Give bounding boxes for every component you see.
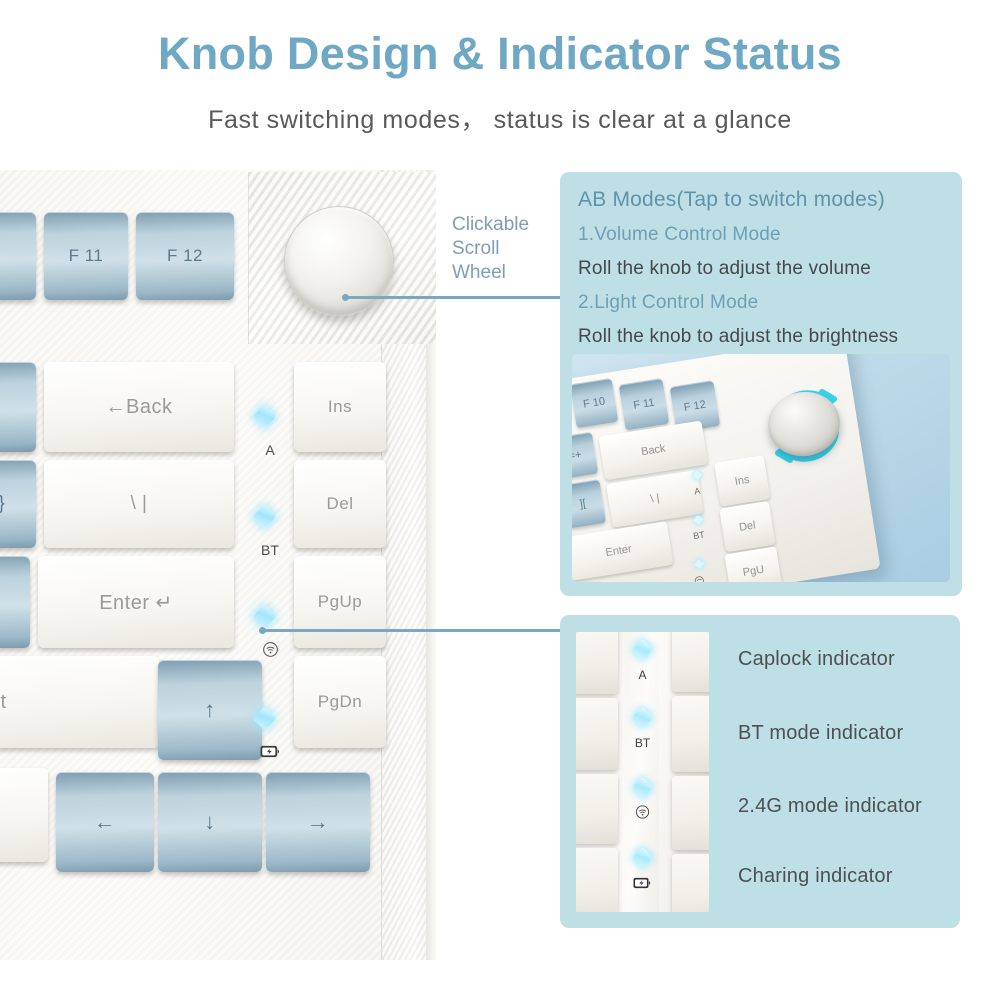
key-label: F 12	[167, 246, 203, 266]
charging-led-icon	[252, 706, 276, 730]
key-label: PgUp	[318, 592, 363, 612]
photo-wifi-icon	[693, 574, 705, 582]
photo-charging-led-icon	[632, 847, 653, 868]
indicator-strip-photo: A BT	[576, 632, 709, 912]
indicator-label-charging: Charing indicator	[738, 865, 893, 888]
photo-key-right-3	[672, 776, 709, 850]
wireless-led-icon	[252, 604, 276, 628]
photo-key-backslash: \ |	[606, 470, 704, 528]
connector-dot-indicators	[259, 627, 266, 634]
key-delete[interactable]: Del	[294, 460, 386, 548]
key-label: F 11	[633, 397, 656, 412]
bt-led-icon	[252, 504, 276, 528]
knob-rotation-photo: F 10 F 11 F 12 =+ Back ][ \ | Enter	[572, 354, 950, 582]
key-f12[interactable]: F 12	[136, 212, 234, 300]
key-label: Enter	[605, 543, 633, 559]
ab-modes-line-1: 1.Volume Control Mode	[578, 224, 781, 246]
photo-key-left-4	[576, 848, 618, 912]
key-label: PgDn	[318, 692, 363, 712]
bt-led-label: BT	[248, 542, 292, 558]
page-subtitle: Fast switching modes， status is clear at…	[0, 100, 1000, 136]
photo-key-left-1	[576, 632, 618, 694]
key-label: ←Back	[106, 396, 173, 419]
key-label: Back	[640, 443, 666, 459]
key-pageup[interactable]: PgUp	[294, 556, 386, 648]
key-label: F 10	[582, 395, 606, 410]
photo-bt-led-icon	[632, 707, 653, 728]
key-label: Ins	[328, 397, 352, 417]
caplock-led-icon	[252, 404, 276, 428]
key-label: Shift	[0, 691, 7, 714]
photo-caplock-led-label: A	[626, 668, 659, 682]
photo-key-enter: Enter	[572, 521, 673, 581]
key-ctrl[interactable]	[0, 768, 48, 862]
key-label: ←	[94, 809, 117, 835]
keyboard-product-photo: F 11 F 12 ←Back Ins ] } \ | Del Enter ↵ …	[0, 170, 436, 960]
ab-modes-panel: AB Modes(Tap to switch modes) 1.Volume C…	[560, 172, 962, 596]
key-arrow-up[interactable]: ↑	[158, 660, 262, 760]
scroll-wheel-callout-label: Clickable Scroll Wheel	[452, 213, 556, 285]
page-title: Knob Design & Indicator Status	[0, 28, 1000, 80]
photo-led-strip: A BT	[626, 632, 659, 912]
key-label: F 12	[683, 399, 707, 414]
photo-key-del: Del	[719, 501, 775, 552]
photo-bt-led-icon	[693, 515, 703, 525]
indicator-label-caplock: Caplock indicator	[738, 648, 895, 671]
key-pagedown[interactable]: PgDn	[294, 656, 386, 748]
photo-key-left-2	[576, 698, 618, 770]
indicator-label-bt: BT mode indicator	[738, 722, 903, 745]
battery-icon	[248, 744, 292, 758]
key-shift[interactable]: Shift	[0, 656, 159, 748]
key-label: Enter ↵	[99, 590, 173, 615]
photo-caplock-led-icon	[632, 639, 653, 660]
photo-key-right-2	[672, 696, 709, 772]
key-f11[interactable]: F 11	[44, 212, 128, 300]
key-label: \ |	[650, 492, 661, 505]
key-insert[interactable]: Ins	[294, 362, 386, 452]
key-quote[interactable]	[0, 556, 30, 648]
photo-wireless-led-icon	[632, 777, 653, 798]
ab-modes-title: AB Modes(Tap to switch modes)	[578, 188, 885, 212]
header: Knob Design & Indicator Status Fast swit…	[0, 0, 1000, 150]
scroll-wheel-knob[interactable]	[284, 206, 394, 316]
photo-key-f11: F 11	[619, 378, 670, 430]
key-arrow-down[interactable]: ↓	[158, 772, 262, 872]
key-label: ] }	[0, 493, 5, 515]
wifi-icon	[248, 642, 292, 657]
photo-key-equals: =+	[572, 432, 598, 480]
ab-modes-line-4: Roll the knob to adjust the brightness	[578, 326, 898, 348]
key-arrow-left[interactable]: ←	[56, 772, 154, 872]
key-label: =+	[572, 449, 582, 463]
key-label: ↑	[204, 697, 216, 723]
photo-key-pgup: PgU	[724, 546, 782, 582]
key-right-bracket[interactable]: ] }	[0, 460, 36, 548]
key-label: F 11	[69, 246, 104, 266]
photo-key-f10: F 10	[572, 378, 618, 428]
ab-modes-line-2: Roll the knob to adjust the volume	[578, 258, 871, 280]
key-label: PgU	[742, 564, 765, 579]
photo-key-right-4	[672, 854, 709, 912]
key-label: Del	[738, 519, 756, 533]
connector-dot-knob	[342, 294, 349, 301]
key-label: Ins	[734, 474, 750, 488]
connector-line-knob	[345, 296, 560, 299]
photo-wireless-led-icon	[694, 559, 704, 569]
key-backslash[interactable]: \ |	[44, 460, 234, 548]
photo-battery-icon	[626, 875, 659, 889]
photo-bt-led-label: BT	[692, 529, 705, 541]
photo-caplock-led-label: A	[693, 486, 701, 497]
photo-key-right-1	[672, 632, 709, 692]
photo-key-left-3	[576, 774, 618, 844]
indicator-label-24g: 2.4G mode indicator	[738, 795, 922, 818]
ab-modes-line-3: 2.Light Control Mode	[578, 292, 758, 314]
photo-wifi-icon	[626, 804, 659, 819]
caplock-led-label: A	[248, 442, 292, 458]
key-label: ][	[579, 498, 587, 511]
key-label: \ |	[131, 493, 148, 515]
key-enter[interactable]: Enter ↵	[38, 556, 234, 648]
connector-line-indicators	[262, 629, 562, 632]
key-backspace[interactable]: ←Back	[44, 362, 234, 452]
key-label: ↓	[204, 809, 216, 835]
key-label: Del	[326, 494, 353, 514]
key-equals[interactable]	[0, 362, 36, 452]
key-label: →	[307, 809, 330, 835]
indicators-panel: A BT	[560, 615, 960, 928]
photo-bt-led-label: BT	[626, 736, 659, 750]
photo-key-bracket: ][	[572, 479, 606, 529]
key-f10[interactable]	[0, 212, 36, 300]
